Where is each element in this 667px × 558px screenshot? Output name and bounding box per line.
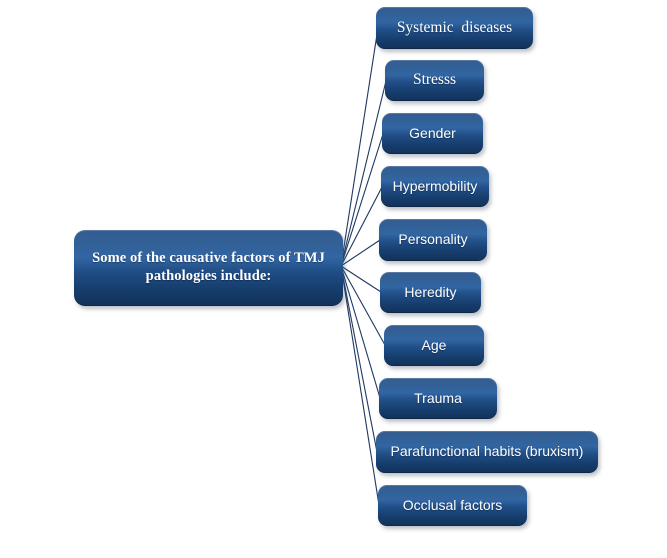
root-node[interactable]: Some of the causative factors of TMJ pat… <box>74 230 343 306</box>
node-trauma[interactable]: Trauma <box>379 378 497 419</box>
connector-line-5 <box>341 266 381 292</box>
node-gender[interactable]: Gender <box>382 113 483 154</box>
connector-line-4 <box>341 240 380 266</box>
connector-line-8 <box>341 266 377 452</box>
node-parafunctional-habits[interactable]: Parafunctional habits (bruxism) <box>376 431 598 473</box>
node-label: Personality <box>398 231 467 248</box>
node-label: Stresss <box>413 71 456 90</box>
node-label: Hypermobility <box>393 178 478 195</box>
connector-line-9 <box>341 266 379 505</box>
node-label: Parafunctional habits (bruxism) <box>391 443 584 460</box>
diagram-canvas: Some of the causative factors of TMJ pat… <box>0 0 667 558</box>
node-label: Occlusal factors <box>403 497 503 514</box>
connector-line-0 <box>341 28 378 266</box>
node-heredity[interactable]: Heredity <box>380 272 481 313</box>
node-label: Gender <box>409 125 456 142</box>
node-systemic-diseases[interactable]: Systemic diseases <box>376 7 533 49</box>
connector-line-6 <box>341 266 385 345</box>
node-age[interactable]: Age <box>384 325 484 366</box>
node-label: Systemic diseases <box>397 19 512 38</box>
node-personality[interactable]: Personality <box>379 219 487 261</box>
node-hypermobility[interactable]: Hypermobility <box>381 166 489 207</box>
connector-line-2 <box>341 134 383 266</box>
node-label: Trauma <box>414 390 462 407</box>
root-node-label: Some of the causative factors of TMJ pat… <box>92 250 325 285</box>
connector-line-3 <box>341 187 382 266</box>
node-label: Heredity <box>404 284 456 301</box>
node-occlusal-factors[interactable]: Occlusal factors <box>378 485 527 526</box>
connector-line-7 <box>341 266 380 398</box>
node-stresss[interactable]: Stresss <box>385 60 484 101</box>
node-label: Age <box>422 337 447 354</box>
